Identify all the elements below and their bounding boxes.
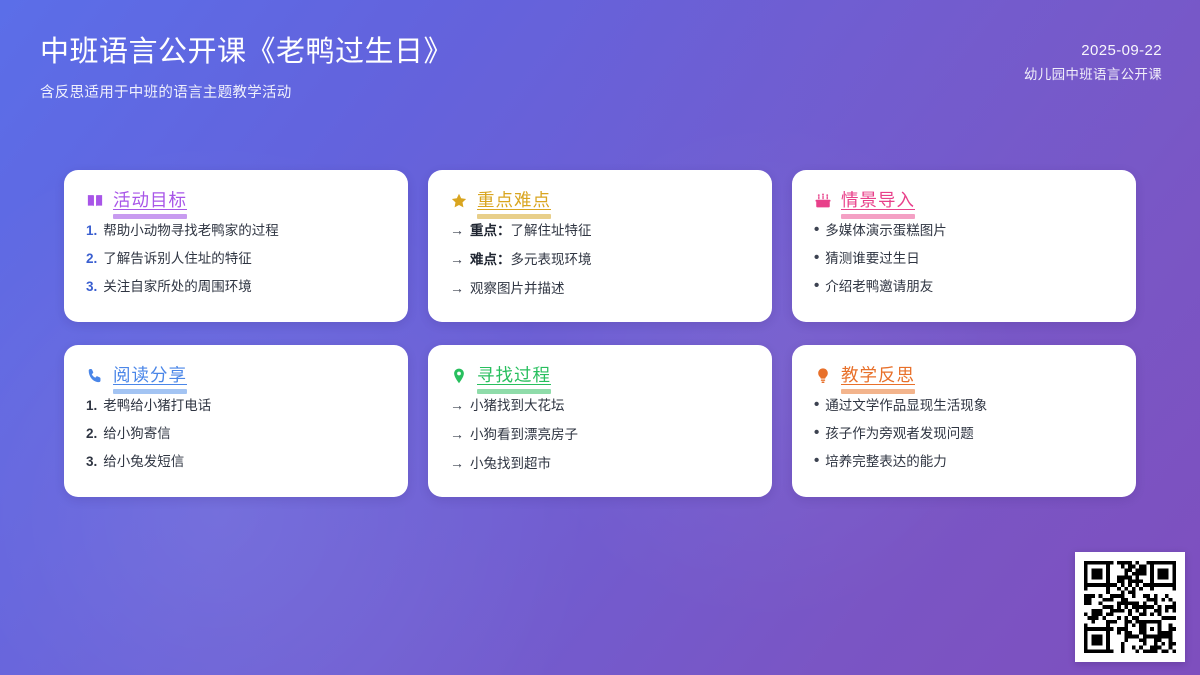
list-item-text: 给小兔发短信 xyxy=(103,452,184,471)
card-teaching-reflection[interactable]: 教学反思•通过文学作品显现生活现象•孩子作为旁观者发现问题•培养完整表达的能力 xyxy=(792,345,1136,497)
qr-code xyxy=(1084,561,1176,653)
list-item-body: 了解住址特征 xyxy=(511,223,592,238)
list-item-lead: 难点： xyxy=(470,252,511,267)
list-item-marker: • xyxy=(814,424,819,443)
list-item-marker: → xyxy=(450,396,464,416)
card-title: 寻找过程 xyxy=(477,365,551,385)
card-title: 重点难点 xyxy=(477,190,551,210)
list-item-text: 观察图片并描述 xyxy=(470,279,565,298)
location-pin-icon xyxy=(450,367,468,385)
list-item-marker: 2. xyxy=(86,249,97,268)
list-item-marker: • xyxy=(814,277,819,296)
list-item-marker: 1. xyxy=(86,396,97,415)
list-item-text: 小狗看到漂亮房子 xyxy=(470,425,578,444)
qr-code-box[interactable] xyxy=(1075,552,1185,662)
list-item-lead: 重点： xyxy=(470,223,511,238)
list-item-text: 培养完整表达的能力 xyxy=(825,452,947,471)
list-item-text: 重点：了解住址特征 xyxy=(470,221,592,240)
list-item-text: 多媒体演示蛋糕图片 xyxy=(825,221,947,240)
list-item: →难点：多元表现环境 xyxy=(450,250,750,270)
card-header: 重点难点 xyxy=(450,190,750,212)
list-item-text: 给小狗寄信 xyxy=(103,424,171,443)
list-item: →小猪找到大花坛 xyxy=(450,396,750,416)
card-list: →重点：了解住址特征→难点：多元表现环境→观察图片并描述 xyxy=(450,221,750,299)
card-title: 情景导入 xyxy=(841,190,915,210)
card-title-underline xyxy=(841,214,915,219)
list-item: →重点：了解住址特征 xyxy=(450,221,750,241)
list-item: 1.老鸭给小猪打电话 xyxy=(86,396,386,415)
card-reading-share[interactable]: 阅读分享1.老鸭给小猪打电话2.给小狗寄信3.给小兔发短信 xyxy=(64,345,408,497)
list-item: •猜测谁要过生日 xyxy=(814,249,1114,268)
list-item-text: 难点：多元表现环境 xyxy=(470,250,592,269)
star-icon xyxy=(450,192,468,210)
card-header: 教学反思 xyxy=(814,365,1114,387)
card-title-wrap: 活动目标 xyxy=(113,190,187,212)
list-item-marker: 1. xyxy=(86,221,97,240)
card-title: 教学反思 xyxy=(841,365,915,385)
list-item-body: 多元表现环境 xyxy=(511,252,592,267)
card-title-underline xyxy=(113,214,187,219)
card-header: 阅读分享 xyxy=(86,365,386,387)
card-title: 阅读分享 xyxy=(113,365,187,385)
card-title-wrap: 情景导入 xyxy=(841,190,915,212)
list-item-marker: → xyxy=(450,279,464,299)
slide-header: 中班语言公开课《老鸭过生日》 含反思适用于中班的语言主题教学活动 2025-09… xyxy=(0,0,1200,140)
card-title-wrap: 阅读分享 xyxy=(113,365,187,387)
list-item-text: 帮助小动物寻找老鸭家的过程 xyxy=(103,221,279,240)
card-list: 1.帮助小动物寻找老鸭家的过程2.了解告诉别人住址的特征3.关注自家所处的周围环… xyxy=(86,221,386,296)
list-item: →观察图片并描述 xyxy=(450,279,750,299)
list-item-text: 老鸭给小猪打电话 xyxy=(103,396,211,415)
list-item: →小狗看到漂亮房子 xyxy=(450,425,750,445)
list-item: •介绍老鸭邀请朋友 xyxy=(814,277,1114,296)
book-icon xyxy=(86,192,104,210)
card-activity-goals[interactable]: 活动目标1.帮助小动物寻找老鸭家的过程2.了解告诉别人住址的特征3.关注自家所处… xyxy=(64,170,408,322)
organization-label: 幼儿园中班语言公开课 xyxy=(1024,65,1162,85)
card-title-underline xyxy=(477,214,551,219)
list-item: 3.给小兔发短信 xyxy=(86,452,386,471)
list-item-marker: → xyxy=(450,250,464,270)
list-item-text: 小猪找到大花坛 xyxy=(470,396,565,415)
list-item-text: 猜测谁要过生日 xyxy=(825,249,920,268)
card-list: •多媒体演示蛋糕图片•猜测谁要过生日•介绍老鸭邀请朋友 xyxy=(814,221,1114,296)
list-item-text: 通过文学作品显现生活现象 xyxy=(825,396,987,415)
list-item: →小兔找到超市 xyxy=(450,454,750,474)
card-header: 情景导入 xyxy=(814,190,1114,212)
list-item: 3.关注自家所处的周围环境 xyxy=(86,277,386,296)
list-item: 2.给小狗寄信 xyxy=(86,424,386,443)
page-subtitle: 含反思适用于中班的语言主题教学活动 xyxy=(40,81,453,102)
card-title-wrap: 重点难点 xyxy=(477,190,551,212)
list-item: •培养完整表达的能力 xyxy=(814,452,1114,471)
list-item-marker: • xyxy=(814,221,819,240)
list-item: 2.了解告诉别人住址的特征 xyxy=(86,249,386,268)
card-header: 活动目标 xyxy=(86,190,386,212)
title-block: 中班语言公开课《老鸭过生日》 含反思适用于中班的语言主题教学活动 xyxy=(40,34,453,102)
card-list: 1.老鸭给小猪打电话2.给小狗寄信3.给小兔发短信 xyxy=(86,396,386,471)
list-item-marker: • xyxy=(814,396,819,415)
page-title: 中班语言公开课《老鸭过生日》 xyxy=(40,34,453,70)
card-title: 活动目标 xyxy=(113,190,187,210)
cake-icon xyxy=(814,192,832,210)
card-list: →小猪找到大花坛→小狗看到漂亮房子→小兔找到超市 xyxy=(450,396,750,474)
card-search-process[interactable]: 寻找过程→小猪找到大花坛→小狗看到漂亮房子→小兔找到超市 xyxy=(428,345,772,497)
header-meta: 2025-09-22 幼儿园中班语言公开课 xyxy=(1024,40,1162,85)
list-item: •多媒体演示蛋糕图片 xyxy=(814,221,1114,240)
card-scene-intro[interactable]: 情景导入•多媒体演示蛋糕图片•猜测谁要过生日•介绍老鸭邀请朋友 xyxy=(792,170,1136,322)
date-label: 2025-09-22 xyxy=(1024,40,1162,63)
list-item-text: 关注自家所处的周围环境 xyxy=(103,277,252,296)
card-title-underline xyxy=(113,389,187,394)
list-item-marker: → xyxy=(450,425,464,445)
list-item-text: 小兔找到超市 xyxy=(470,454,551,473)
list-item-marker: 2. xyxy=(86,424,97,443)
slide-canvas: 中班语言公开课《老鸭过生日》 含反思适用于中班的语言主题教学活动 2025-09… xyxy=(0,0,1200,675)
list-item-text: 介绍老鸭邀请朋友 xyxy=(825,277,933,296)
card-title-underline xyxy=(841,389,915,394)
list-item-text: 了解告诉别人住址的特征 xyxy=(103,249,252,268)
card-title-wrap: 寻找过程 xyxy=(477,365,551,387)
list-item-marker: • xyxy=(814,452,819,471)
card-header: 寻找过程 xyxy=(450,365,750,387)
card-title-underline xyxy=(477,389,551,394)
card-grid: 活动目标1.帮助小动物寻找老鸭家的过程2.了解告诉别人住址的特征3.关注自家所处… xyxy=(64,170,1136,497)
list-item-marker: → xyxy=(450,221,464,241)
lightbulb-icon xyxy=(814,367,832,385)
phone-icon xyxy=(86,367,104,385)
list-item-marker: • xyxy=(814,249,819,268)
card-key-points[interactable]: 重点难点→重点：了解住址特征→难点：多元表现环境→观察图片并描述 xyxy=(428,170,772,322)
card-title-wrap: 教学反思 xyxy=(841,365,915,387)
list-item-marker: 3. xyxy=(86,277,97,296)
list-item: •通过文学作品显现生活现象 xyxy=(814,396,1114,415)
list-item-marker: → xyxy=(450,454,464,474)
list-item: 1.帮助小动物寻找老鸭家的过程 xyxy=(86,221,386,240)
list-item-marker: 3. xyxy=(86,452,97,471)
list-item-text: 孩子作为旁观者发现问题 xyxy=(825,424,974,443)
card-list: •通过文学作品显现生活现象•孩子作为旁观者发现问题•培养完整表达的能力 xyxy=(814,396,1114,471)
list-item: •孩子作为旁观者发现问题 xyxy=(814,424,1114,443)
